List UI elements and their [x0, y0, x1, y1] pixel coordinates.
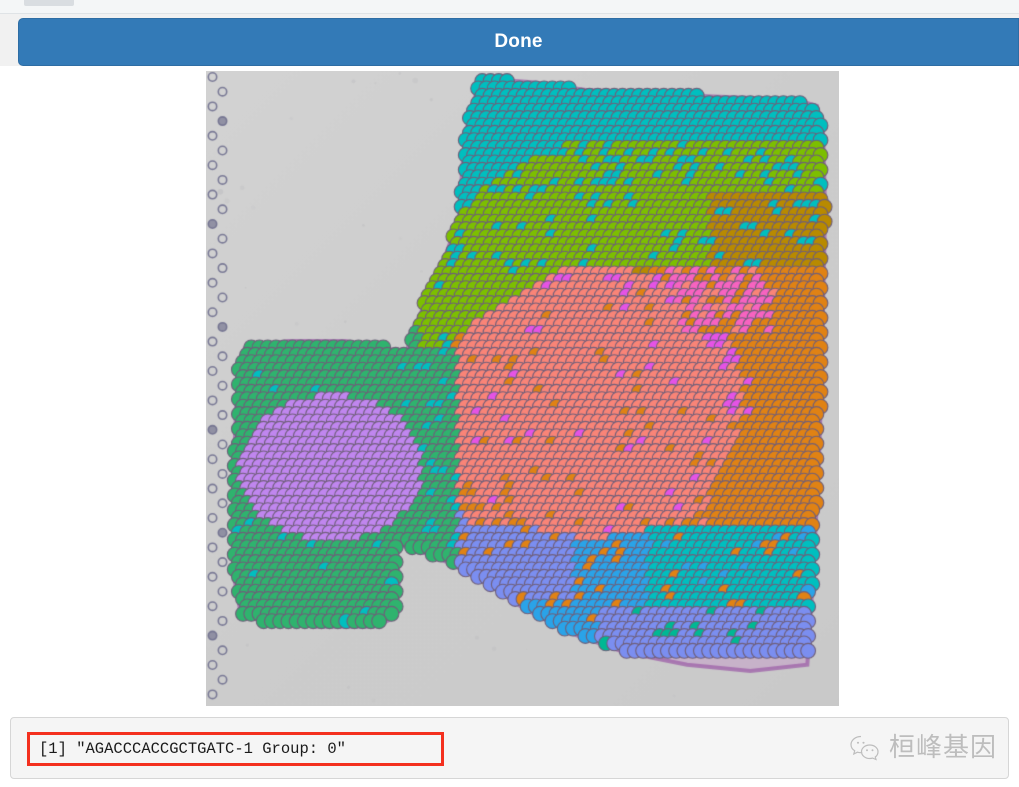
top-strip-tab: [24, 0, 74, 6]
wechat-icon: [849, 733, 881, 763]
watermark: 桓峰基因: [849, 726, 997, 770]
console-output-text: [1] "AGACCCACCGCTGATC-1 Group: 0": [27, 732, 444, 766]
app-window: Done [1] "AGACCCACCGCTGATC-1 Group: 0" 桓…: [0, 0, 1019, 787]
watermark-text: 桓峰基因: [889, 733, 997, 763]
done-button-bar: Done: [0, 14, 1019, 66]
spatial-cluster-plot[interactable]: [206, 71, 839, 706]
done-button[interactable]: Done: [18, 18, 1019, 66]
top-strip: [0, 0, 1019, 14]
spatial-plot-area: [0, 66, 1019, 711]
